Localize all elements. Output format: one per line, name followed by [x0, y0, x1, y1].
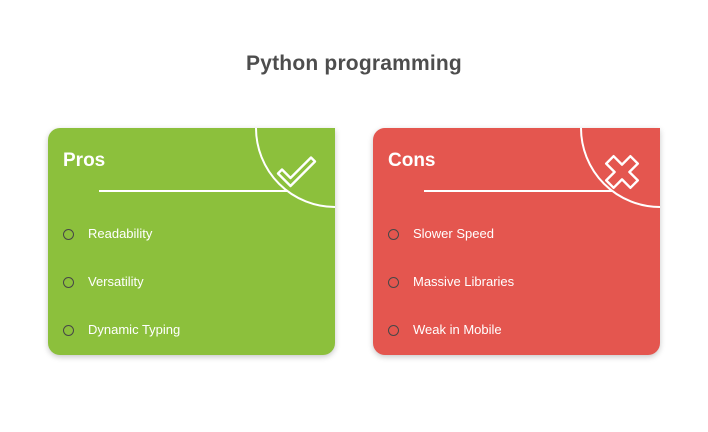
list-item[interactable]: Massive Libraries [388, 258, 648, 306]
list-item[interactable]: Slower Speed [388, 210, 648, 258]
list-item-label: Massive Libraries [413, 274, 514, 290]
cons-card: Cons Slower Speed Massive Libraries Weak… [373, 128, 660, 355]
pros-card-body: Pros Readability Versatility Dynamic Typ… [63, 150, 323, 354]
list-item-label: Weak in Mobile [413, 322, 502, 338]
bullet-ring-icon [388, 325, 399, 336]
list-item[interactable]: Dynamic Typing [63, 306, 323, 354]
list-item-label: Slower Speed [413, 226, 494, 242]
bullet-ring-icon [63, 277, 74, 288]
cons-heading: Cons [388, 150, 648, 172]
cons-card-body: Cons Slower Speed Massive Libraries Weak… [388, 150, 648, 354]
pros-card: Pros Readability Versatility Dynamic Typ… [48, 128, 335, 355]
infographic-canvas: Python programming Pros Readability Vers… [0, 0, 708, 432]
cons-item-list: Slower Speed Massive Libraries Weak in M… [388, 210, 648, 354]
list-item[interactable]: Versatility [63, 258, 323, 306]
bullet-ring-icon [63, 229, 74, 240]
list-item-label: Versatility [88, 274, 144, 290]
pros-heading: Pros [63, 150, 323, 172]
page-title: Python programming [0, 52, 708, 76]
bullet-ring-icon [63, 325, 74, 336]
bullet-ring-icon [388, 229, 399, 240]
pros-item-list: Readability Versatility Dynamic Typing [63, 210, 323, 354]
pros-divider [99, 190, 287, 192]
list-item[interactable]: Weak in Mobile [388, 306, 648, 354]
bullet-ring-icon [388, 277, 399, 288]
list-item-label: Dynamic Typing [88, 322, 180, 338]
list-item[interactable]: Readability [63, 210, 323, 258]
list-item-label: Readability [88, 226, 152, 242]
cons-divider [424, 190, 612, 192]
